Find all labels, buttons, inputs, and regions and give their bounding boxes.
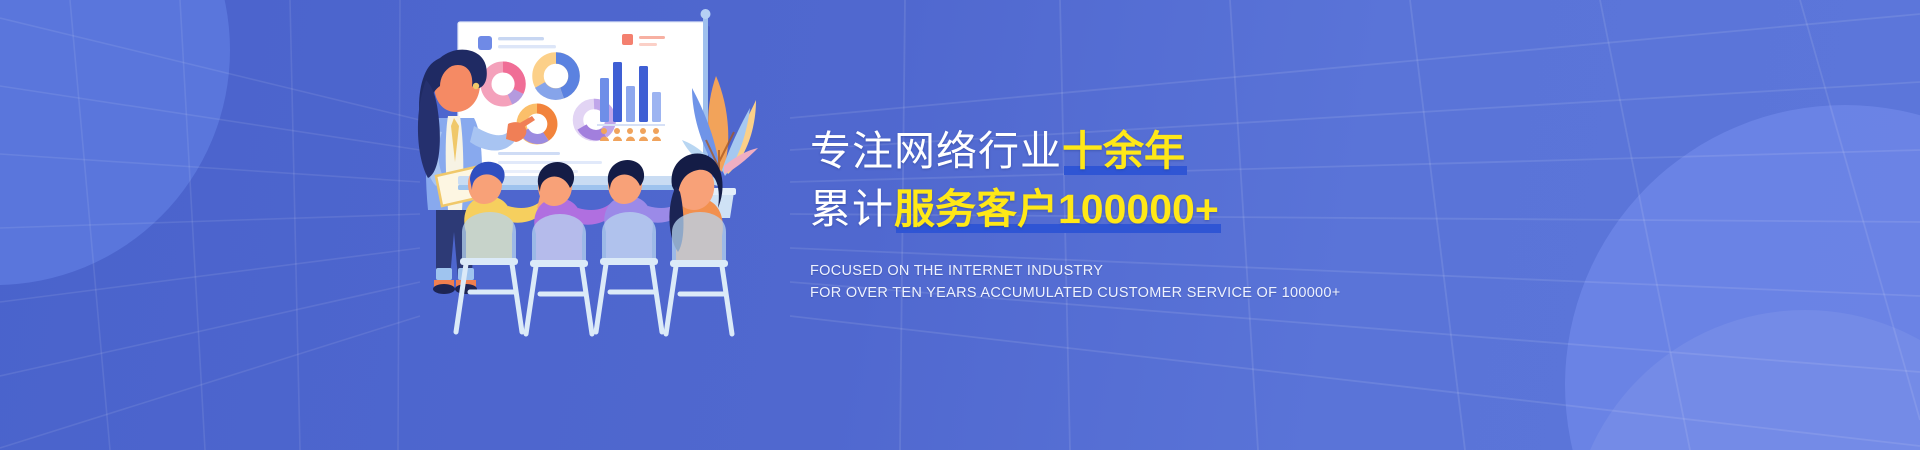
whiteboard-footer-line xyxy=(498,152,560,155)
marketing-banner: 专注网络行业十余年 累计服务客户100000+ FOCUSED ON THE I… xyxy=(0,0,1920,450)
presentation-scene-svg xyxy=(400,0,800,450)
chair-seat xyxy=(602,212,656,262)
background-blob-bottom-right xyxy=(1565,105,1920,450)
presenter-cuff xyxy=(436,268,452,280)
chair-seat-edge xyxy=(460,258,518,265)
whiteboard-pole-cap xyxy=(701,9,711,19)
chair-seat-edge xyxy=(600,258,658,265)
whiteboard-legend-line xyxy=(639,36,665,39)
chair-seat xyxy=(672,212,726,264)
chair-legs xyxy=(456,264,522,332)
headline-line-1-emphasis: 十余年 xyxy=(1062,126,1185,176)
whiteboard-legend-line xyxy=(639,43,657,46)
whiteboard-header-icon xyxy=(478,36,492,50)
headline-line-2-plain: 累计 xyxy=(810,186,894,232)
chair-legs xyxy=(526,266,592,334)
headline-line-2-emphasis: 服务客户100000+ xyxy=(894,184,1219,234)
whiteboard-header-line xyxy=(498,37,544,40)
subtitle-block: FOCUSED ON THE INTERNET INDUSTRY FOR OVE… xyxy=(810,260,1610,304)
whiteboard-legend-swatch xyxy=(622,34,633,45)
subtitle-line-2: FOR OVER TEN YEARS ACCUMULATED CUSTOMER … xyxy=(810,282,1610,304)
chair-seat-edge xyxy=(530,260,588,267)
background-blob-top-left xyxy=(0,0,230,285)
headline-line-1-plain: 专注网络行业 xyxy=(810,128,1062,174)
audience-member-4 xyxy=(666,154,732,334)
headline-line-1: 专注网络行业十余年 xyxy=(810,126,1610,176)
subtitle-line-1: FOCUSED ON THE INTERNET INDUSTRY xyxy=(810,260,1610,282)
chair-seat xyxy=(462,212,516,262)
presenter-earring xyxy=(473,83,479,89)
background-blob-bottom-right-secondary xyxy=(1570,310,1920,450)
whiteboard-header-line xyxy=(498,45,556,48)
banner-text-block: 专注网络行业十余年 累计服务客户100000+ FOCUSED ON THE I… xyxy=(810,126,1610,304)
chair-seat-edge xyxy=(670,260,728,267)
chair-legs xyxy=(596,264,662,332)
headline-line-2: 累计服务客户100000+ xyxy=(810,184,1610,234)
chair-seat xyxy=(532,214,586,264)
chair-legs xyxy=(666,266,732,334)
illustration-container xyxy=(400,0,800,450)
